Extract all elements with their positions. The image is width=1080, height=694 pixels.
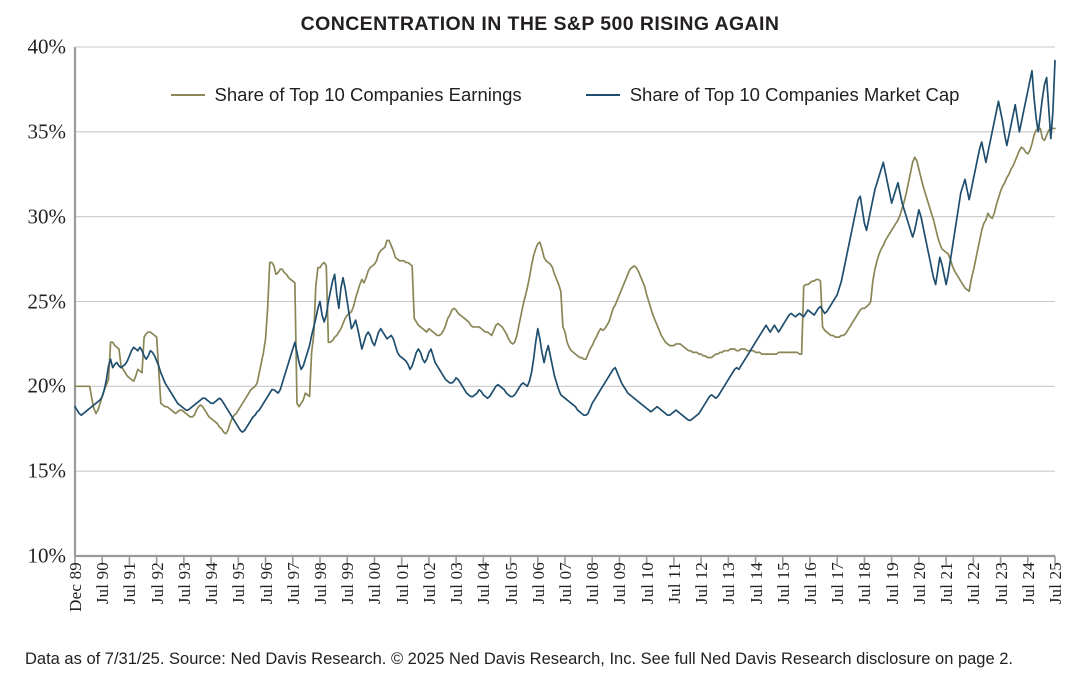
x-axis-tick-label: Jul 16: [801, 562, 821, 604]
x-axis-tick-label: Jul 01: [393, 562, 413, 604]
x-axis-tick-label: Jul 10: [638, 562, 658, 604]
x-axis-tick-label: Jul 92: [148, 562, 168, 604]
x-axis-tick-label: Jul 02: [420, 562, 440, 604]
chart-container: CONCENTRATION IN THE S&P 500 RISING AGAI…: [0, 0, 1080, 694]
x-axis-tick-label: Jul 06: [529, 562, 549, 604]
x-axis-tick-label: Jul 14: [747, 562, 767, 604]
x-axis-labels: Dec 89Jul 90Jul 91Jul 92Jul 93Jul 94Jul …: [0, 0, 1080, 694]
x-axis-tick-label: Jul 18: [855, 562, 875, 604]
x-axis-tick-label: Jul 19: [883, 562, 903, 604]
source-footnote: Data as of 7/31/25. Source: Ned Davis Re…: [25, 650, 1013, 669]
x-axis-tick-label: Jul 13: [719, 562, 739, 604]
x-axis-tick-label: Jul 11: [665, 562, 685, 604]
x-axis-tick-label: Dec 89: [66, 562, 86, 612]
x-axis-tick-label: Jul 17: [828, 562, 848, 604]
x-axis-tick-label: Jul 99: [338, 562, 358, 604]
x-axis-tick-label: Jul 15: [774, 562, 794, 604]
x-axis-tick-label: Jul 22: [964, 562, 984, 604]
x-axis-tick-label: Jul 09: [610, 562, 630, 604]
x-axis-tick-label: Jul 05: [502, 562, 522, 604]
x-axis-tick-label: Jul 98: [311, 562, 331, 604]
x-axis-tick-label: Jul 07: [556, 562, 576, 604]
x-axis-tick-label: Jul 21: [937, 562, 957, 604]
x-axis-tick-label: Jul 25: [1046, 562, 1066, 604]
x-axis-tick-label: Jul 97: [284, 562, 304, 604]
x-axis-tick-label: Jul 20: [910, 562, 930, 604]
x-axis-tick-label: Jul 90: [93, 562, 113, 604]
x-axis-tick-label: Jul 00: [365, 562, 385, 604]
x-axis-tick-label: Jul 04: [474, 562, 494, 604]
x-axis-tick-label: Jul 95: [229, 562, 249, 604]
x-axis-tick-label: Jul 94: [202, 562, 222, 604]
x-axis-tick-label: Jul 93: [175, 562, 195, 604]
x-axis-tick-label: Jul 24: [1019, 562, 1039, 604]
x-axis-tick-label: Jul 12: [692, 562, 712, 604]
x-axis-tick-label: Jul 23: [992, 562, 1012, 604]
x-axis-tick-label: Jul 08: [583, 562, 603, 604]
x-axis-tick-label: Jul 91: [120, 562, 140, 604]
x-axis-tick-label: Jul 03: [447, 562, 467, 604]
x-axis-tick-label: Jul 96: [257, 562, 277, 604]
